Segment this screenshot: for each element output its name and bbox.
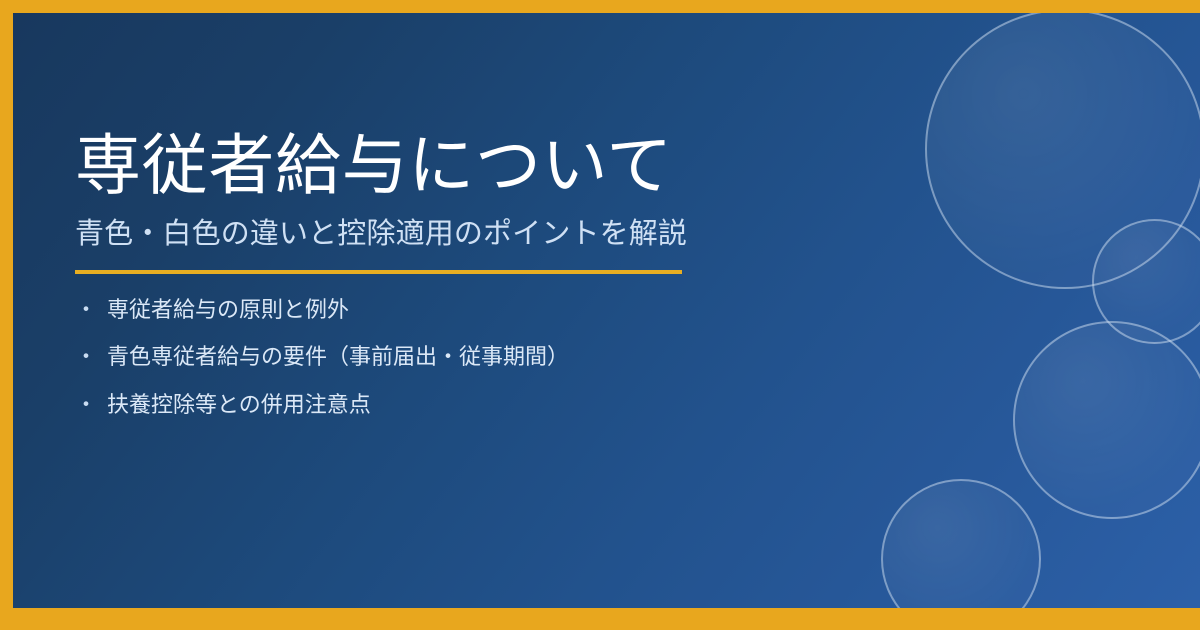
frame-band-bottom <box>0 608 1200 630</box>
list-item: ・ 扶養控除等との併用注意点 <box>75 392 835 420</box>
bullet-dot-icon: ・ <box>75 297 107 325</box>
decorative-circle-medium-lower-right <box>1013 321 1200 519</box>
list-item-label: 扶養控除等との併用注意点 <box>107 392 371 420</box>
slide-subtitle: 青色・白色の違いと控除適用のポイントを解説 <box>75 215 835 253</box>
frame-band-left <box>0 0 13 630</box>
slide-content: 専従者給与について 青色・白色の違いと控除適用のポイントを解説 ・ 専従者給与の… <box>75 130 835 419</box>
slide-canvas: 専従者給与について 青色・白色の違いと控除適用のポイントを解説 ・ 専従者給与の… <box>13 13 1200 608</box>
gold-accent-rule <box>75 270 682 274</box>
list-item-label: 青色専従者給与の要件（事前届出・従事期間） <box>107 344 569 372</box>
decorative-circle-medium-bottom <box>881 479 1041 608</box>
list-item-label: 専従者給与の原則と例外 <box>107 297 349 325</box>
list-item: ・ 専従者給与の原則と例外 <box>75 297 835 325</box>
frame-band-top <box>0 0 1200 13</box>
bullet-dot-icon: ・ <box>75 344 107 372</box>
list-item: ・ 青色専従者給与の要件（事前届出・従事期間） <box>75 344 835 372</box>
slide-title: 専従者給与について <box>75 130 835 201</box>
decorative-circle-small-right <box>1092 219 1200 344</box>
agenda-bullet-list: ・ 専従者給与の原則と例外 ・ 青色専従者給与の要件（事前届出・従事期間） ・ … <box>75 297 835 420</box>
bullet-dot-icon: ・ <box>75 392 107 420</box>
presentation-slide: 専従者給与について 青色・白色の違いと控除適用のポイントを解説 ・ 専従者給与の… <box>0 0 1200 630</box>
decorative-circle-large-top-right <box>925 13 1200 289</box>
